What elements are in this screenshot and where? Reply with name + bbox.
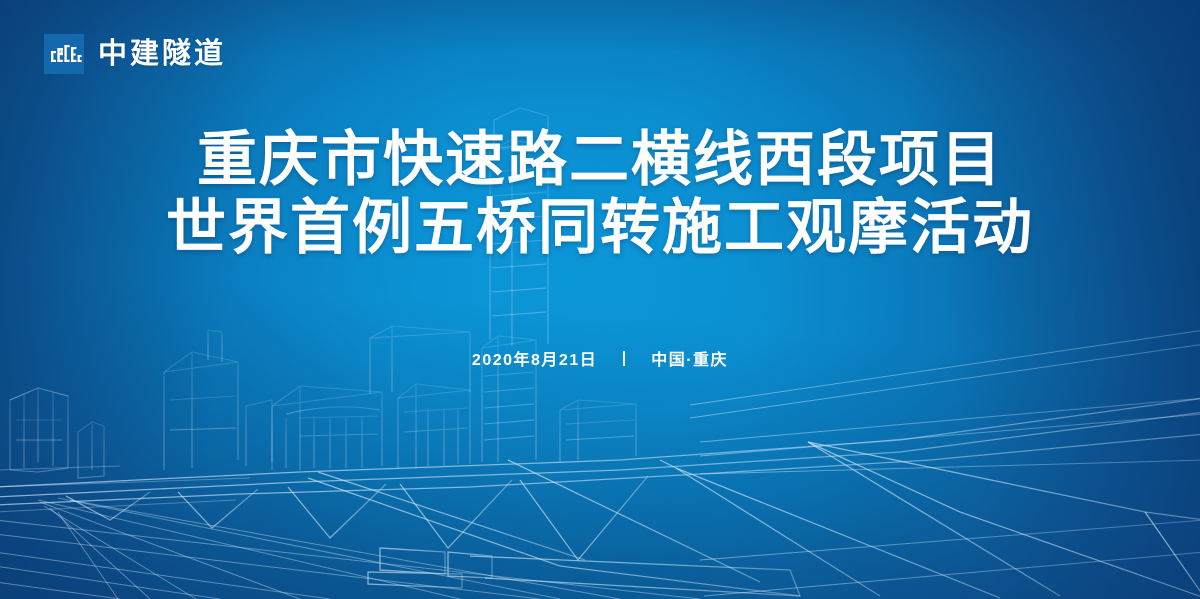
event-date: 2020年8月21日	[472, 346, 597, 370]
background-artwork	[0, 0, 1200, 599]
title-line-2: 世界首例五桥同转施工观摩活动	[0, 194, 1200, 262]
title-block: 重庆市快速路二横线西段项目 世界首例五桥同转施工观摩活动	[0, 126, 1200, 263]
logo-background	[44, 34, 84, 74]
left-sweep-lines	[0, 466, 250, 512]
brand-lockup: 中建隧道	[44, 34, 226, 74]
subtitle-row: 2020年8月21日 中国·重庆	[0, 346, 1200, 370]
title-line-1: 重庆市快速路二横线西段项目	[0, 126, 1200, 194]
event-location: 中国·重庆	[651, 346, 728, 370]
brand-name: 中建隧道	[98, 40, 226, 69]
subtitle-separator	[623, 351, 625, 366]
event-backdrop: 中建隧道 重庆市快速路二横线西段项目 世界首例五桥同转施工观摩活动 2020年8…	[0, 0, 1200, 599]
cscec-logo-icon	[44, 34, 84, 74]
